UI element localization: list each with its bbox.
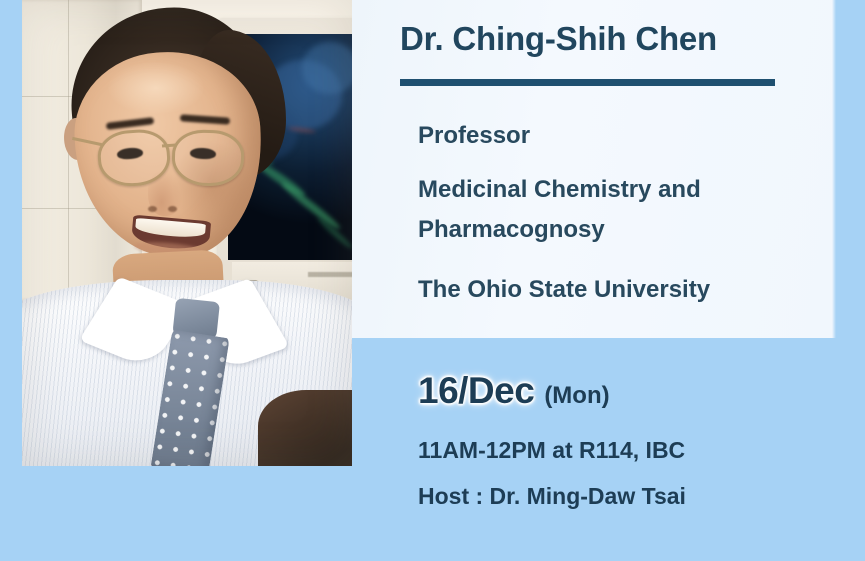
speaker-photo-image xyxy=(22,0,352,466)
speaker-department-line-2: Pharmacognosy xyxy=(418,216,605,244)
photo-nostril-left xyxy=(148,206,157,212)
speaker-department-line-1: Medicinal Chemistry and xyxy=(418,176,701,204)
speaker-title: Professor xyxy=(418,122,530,150)
photo-teeth xyxy=(135,218,206,239)
speaker-photo xyxy=(22,0,352,466)
speaker-name-underline xyxy=(400,79,775,86)
photo-glasses-lens-right xyxy=(171,129,245,187)
event-time-and-venue: 11AM-12PM at R114, IBC xyxy=(418,437,685,464)
event-host: Host : Dr. Ming-Daw Tsai xyxy=(418,483,686,510)
event-day-of-week: (Mon) xyxy=(544,382,609,410)
event-date-row: 16/Dec (Mon) xyxy=(418,370,610,412)
photo-monitor-label xyxy=(308,272,352,277)
photo-forehead-highlight xyxy=(108,62,204,114)
speaker-institution: The Ohio State University xyxy=(418,276,710,304)
photo-shoulder xyxy=(258,390,352,466)
speaker-name: Dr. Ching-Shih Chen xyxy=(400,20,717,58)
photo-nostril-right xyxy=(168,206,177,212)
seminar-poster: Dr. Ching-Shih Chen Professor Medicinal … xyxy=(0,0,865,561)
event-date: 16/Dec xyxy=(418,370,534,412)
